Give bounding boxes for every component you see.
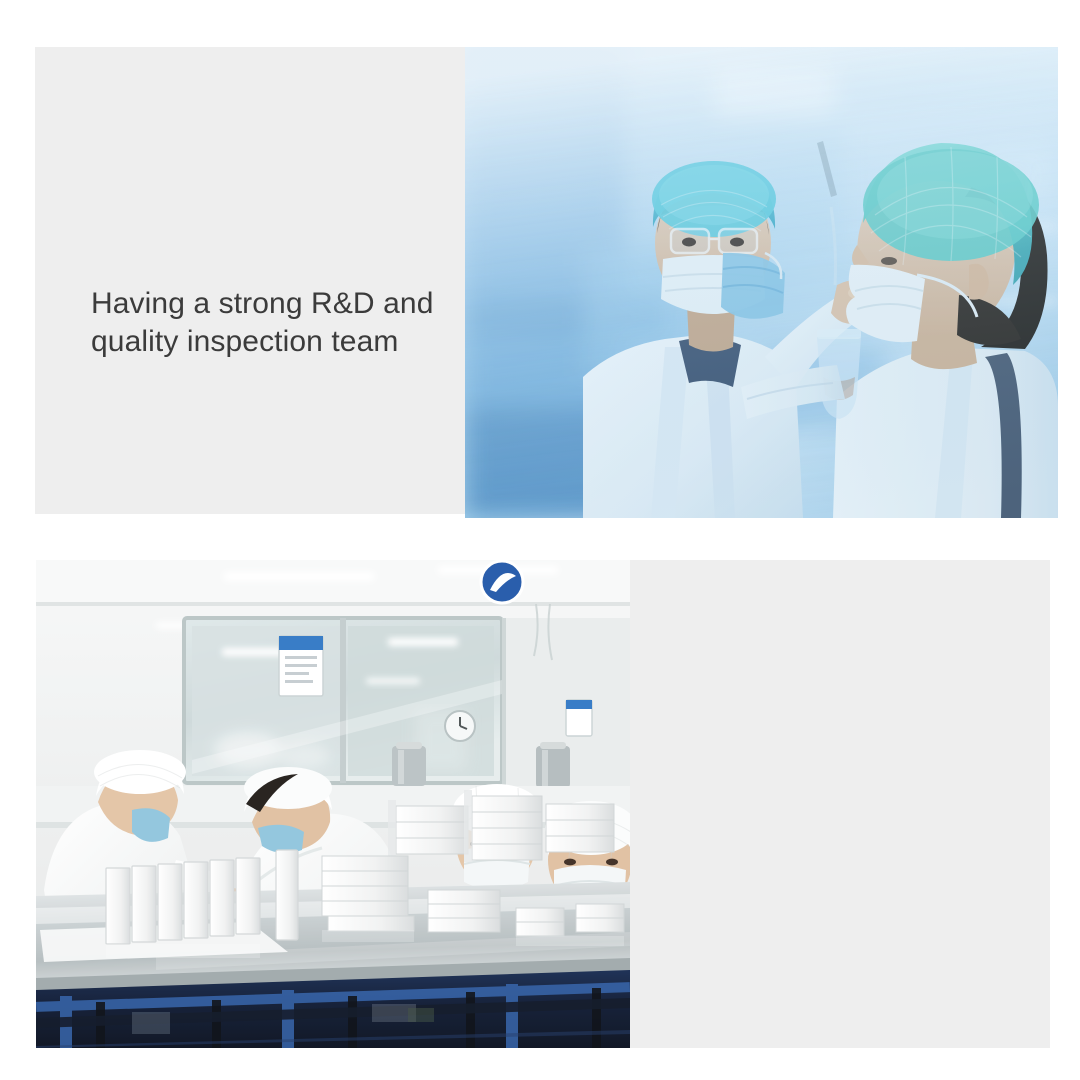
- top-caption-text: Having a strong R&D and quality inspecti…: [91, 285, 491, 362]
- bottom-caption-panel: a warehouse distribution area a warehous…: [628, 560, 1050, 1048]
- page-root: Having a strong R&D and quality inspecti…: [0, 0, 1080, 1080]
- lab-photo-illustration: [465, 47, 1058, 518]
- rd-quality-inspection-lab-photo: [465, 47, 1058, 518]
- top-caption-panel: Having a strong R&D and quality inspecti…: [35, 47, 467, 514]
- top-section: Having a strong R&D and quality inspecti…: [0, 0, 1080, 540]
- warehouse-photo-illustration: [36, 560, 630, 1048]
- bottom-section: a warehouse distribution area a warehous…: [0, 540, 1080, 1080]
- warehouse-packaging-cleanroom-photo: [36, 560, 630, 1048]
